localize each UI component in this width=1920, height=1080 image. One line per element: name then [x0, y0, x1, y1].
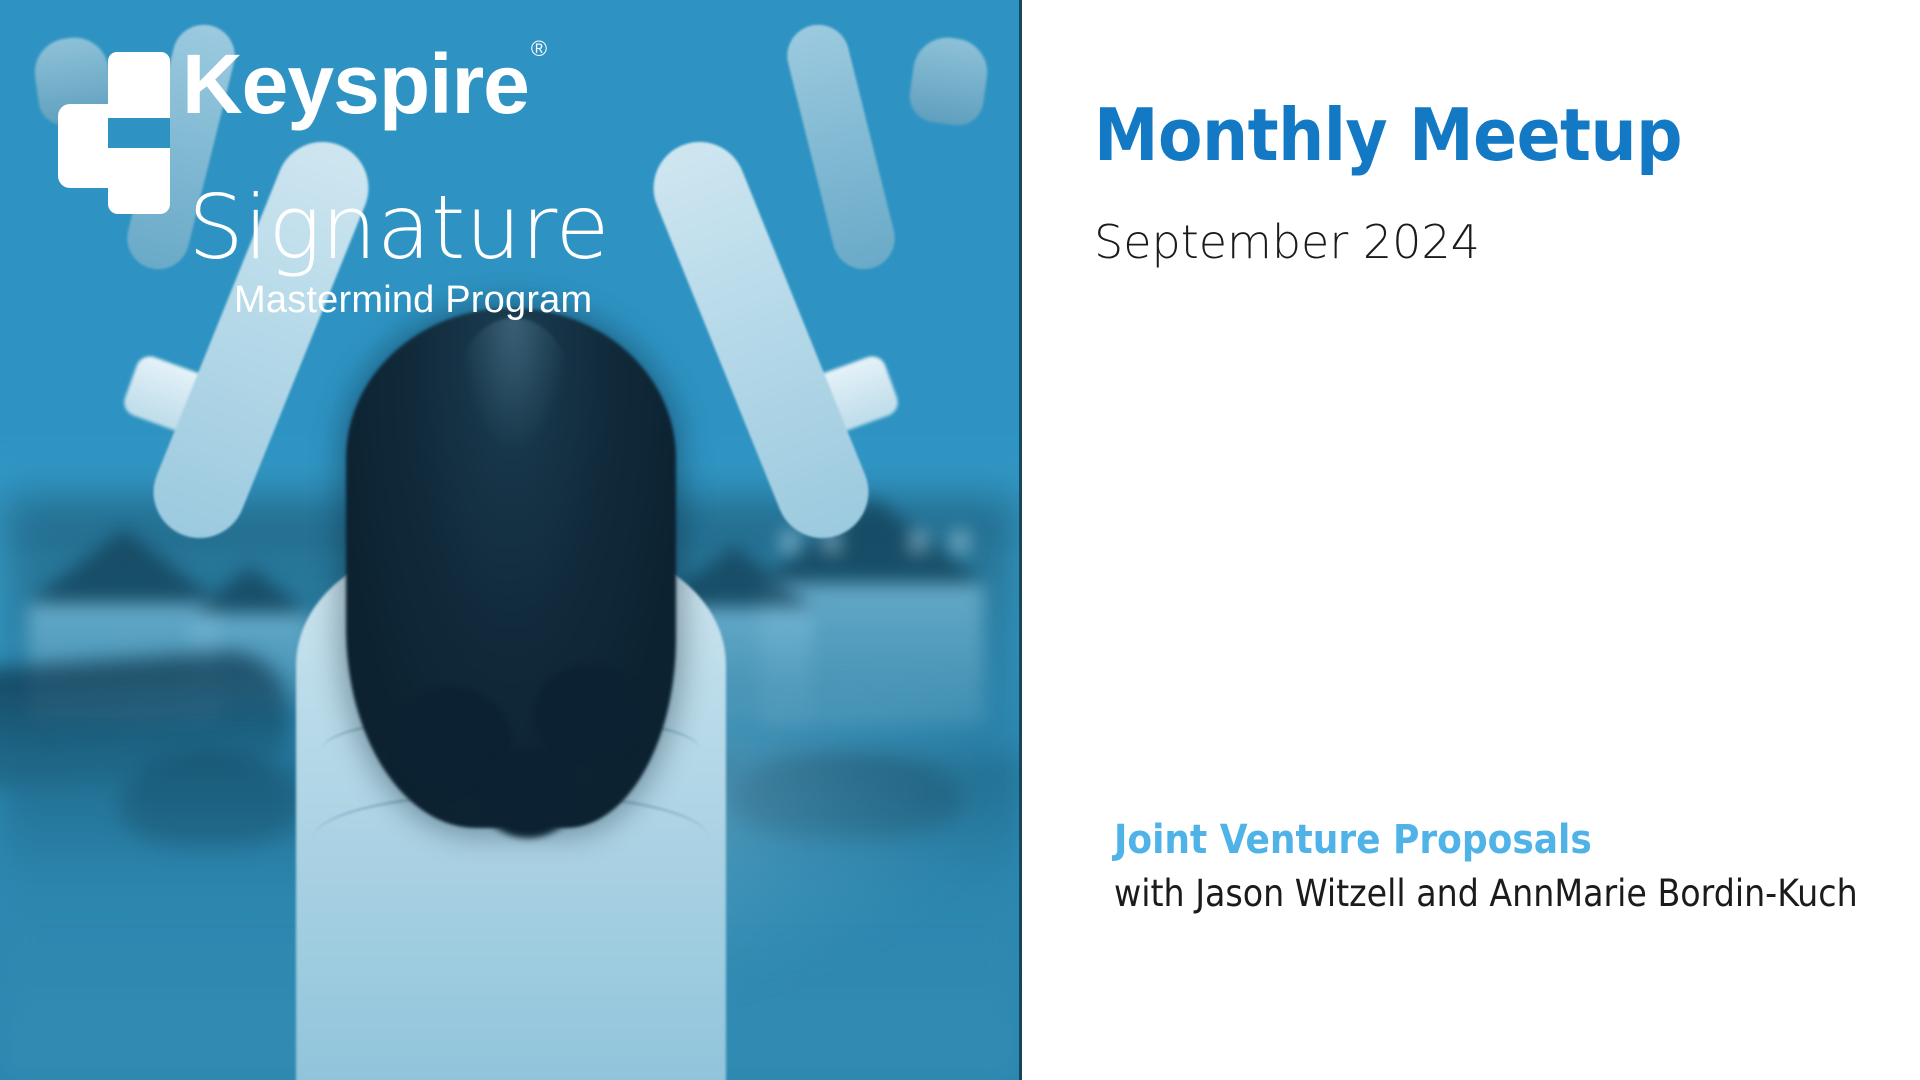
- keyspire-three-squares-mark-icon: [58, 52, 170, 188]
- mark-notch: [108, 118, 170, 148]
- hero-photo-panel: Keyspire® Signature Mastermind Program: [0, 0, 1022, 1080]
- hair-curl: [533, 665, 643, 765]
- mark-square-bottom-right: [108, 148, 170, 214]
- presenter-credits: with Jason Witzell and AnnMarie Bordin-K…: [1114, 873, 1858, 916]
- hair-curl: [392, 687, 512, 797]
- slide-date: September 2024: [1094, 215, 1480, 270]
- slide-root: Keyspire® Signature Mastermind Program M…: [0, 0, 1920, 1080]
- program-subline-mastermind: Mastermind Program: [234, 280, 609, 322]
- session-topic: Joint Venture Proposals: [1114, 817, 1592, 863]
- content-pane: Monthly Meetup September 2024 Joint Vent…: [1022, 0, 1920, 1080]
- slide-title: Monthly Meetup: [1094, 98, 1682, 174]
- forearm-right: [781, 18, 902, 276]
- long-dark-hair: [346, 308, 676, 828]
- program-line-signature: Signature: [188, 184, 609, 272]
- keyspire-wordmark: Keyspire®: [182, 46, 545, 123]
- raised-fist-right: [906, 33, 991, 128]
- keyspire-logo-lockup: Keyspire® Signature Mastermind Program: [58, 46, 609, 322]
- registered-trademark-icon: ®: [531, 36, 547, 61]
- keyspire-wordmark-text: Keyspire: [182, 37, 529, 131]
- logo-primary-row: Keyspire®: [58, 46, 609, 188]
- hair-curl: [478, 748, 578, 838]
